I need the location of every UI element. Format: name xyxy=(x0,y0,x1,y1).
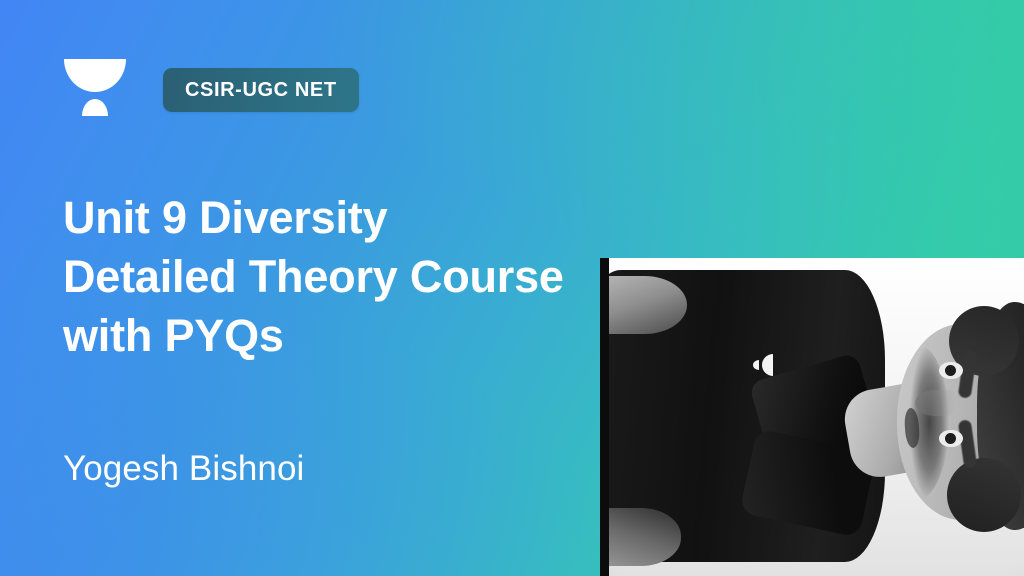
portrait-arm-highlight xyxy=(600,508,681,566)
bowl-logo-icon xyxy=(64,59,126,123)
photo-left-edge-strip xyxy=(600,258,609,576)
exam-badge-label: CSIR-UGC NET xyxy=(185,80,337,100)
exam-badge: CSIR-UGC NET xyxy=(163,68,359,112)
shirt-bowl-logo-icon xyxy=(753,354,773,376)
bowl-logo-cup-shape xyxy=(64,59,126,92)
shirt-bowl-logo-cup-shape xyxy=(762,354,773,376)
portrait-hair-side-lower xyxy=(947,458,1021,532)
instructor-portrait-photo xyxy=(600,258,1024,576)
course-thumbnail-card: CSIR-UGC NET Unit 9 Diversity Detailed T… xyxy=(0,0,1024,576)
instructor-name: Yogesh Bishnoi xyxy=(63,446,304,492)
course-title-line-1: Unit 9 Diversity xyxy=(63,188,823,247)
portrait-nose xyxy=(915,390,955,416)
bowl-logo-base-shape xyxy=(82,99,108,116)
portrait-shoulder-highlight xyxy=(600,276,687,334)
portrait-image-content xyxy=(609,258,1024,576)
portrait-pupil-lower xyxy=(945,433,956,444)
shirt-bowl-logo-base-shape xyxy=(753,360,759,370)
portrait-pupil-upper xyxy=(945,365,956,376)
